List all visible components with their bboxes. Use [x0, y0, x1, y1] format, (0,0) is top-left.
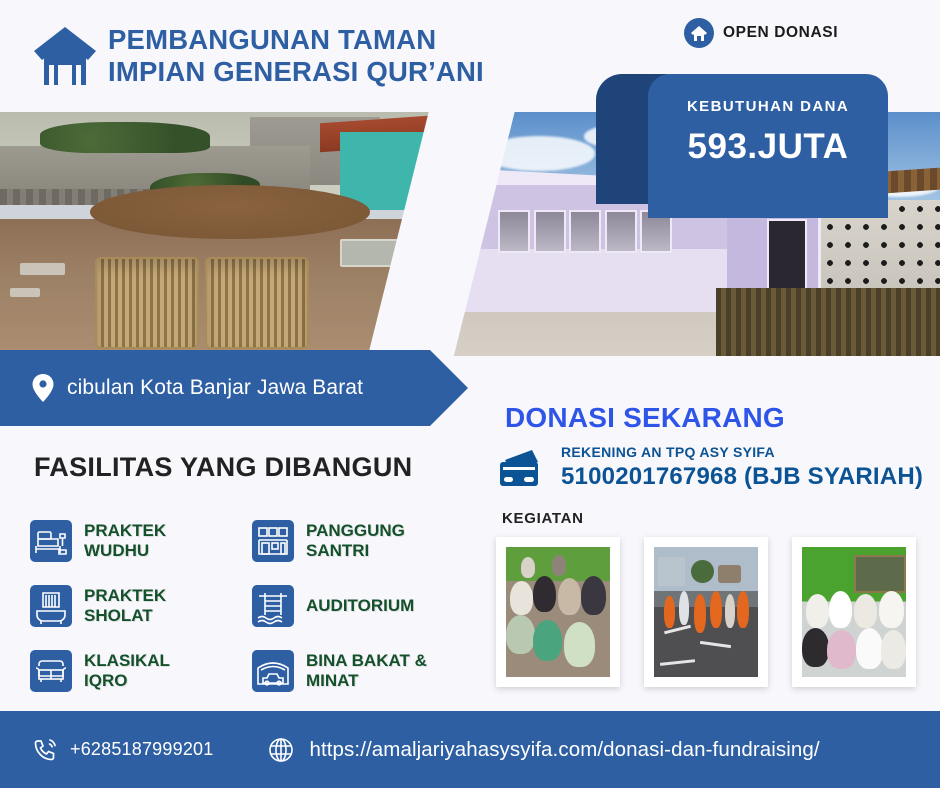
facility-label-line2: MINAT: [306, 671, 359, 690]
facility-label-line2: SANTRI: [306, 541, 369, 560]
footer: +6285187999201 https://amaljariyahasysyi…: [0, 711, 940, 788]
location-text: cibulan Kota Banjar Jawa Barat: [67, 376, 363, 400]
facility-item-bina-bakat-minat: BINA BAKAT & MINAT: [252, 638, 480, 703]
activities-title: KEGIATAN: [502, 510, 584, 527]
facility-label: PRAKTEK SHOLAT: [84, 586, 166, 625]
phone-number: +6285187999201: [70, 739, 213, 760]
facility-label-line2: SHOLAT: [84, 606, 153, 625]
facility-label-line2: IQRO: [84, 671, 127, 690]
facility-item-panggung-santri: PANGGUNG SANTRI: [252, 508, 480, 573]
facility-item-klasikal-iqro: KLASIKAL IQRO: [30, 638, 252, 703]
facility-label-line1: PRAKTEK: [84, 586, 166, 605]
facility-label-line2: WUDHU: [84, 541, 149, 560]
location-banner: cibulan Kota Banjar Jawa Barat: [0, 350, 495, 426]
fund-card-amount: 593.JUTA: [688, 127, 849, 167]
title-line-2: IMPIAN GENERASI QUR’ANI: [108, 56, 578, 88]
house-icon: [32, 25, 98, 87]
facility-label: BINA BAKAT & MINAT: [306, 651, 427, 690]
account-label: REKENING AN TPQ ASY SYIFA: [561, 444, 775, 460]
account-row: REKENING AN TPQ ASY SYIFA 5100201767968 …: [498, 444, 923, 491]
website-url: https://amaljariyahasysyifa.com/donasi-d…: [309, 738, 819, 762]
activity-photo-1: [496, 537, 620, 687]
facilities-title: FASILITAS YANG DIBANGUN: [34, 452, 412, 483]
garage-icon: [252, 650, 294, 692]
facility-label: PRAKTEK WUDHU: [84, 521, 166, 560]
facility-label-line1: PRAKTEK: [84, 521, 166, 540]
donasi-heading: DONASI SEKARANG: [505, 402, 785, 434]
facility-label-line1: AUDITORIUM: [306, 596, 414, 615]
facility-item-praktek-sholat: PRAKTEK SHOLAT: [30, 573, 252, 638]
facility-label-line1: BINA BAKAT &: [306, 651, 427, 670]
activity-photo-2: [644, 537, 768, 687]
marching-band-parade-photo: [654, 547, 758, 677]
footer-phone[interactable]: +6285187999201: [32, 737, 213, 763]
kitchen-icon: [252, 520, 294, 562]
donation-poster: PEMBANGUNAN TAMAN IMPIAN GENERASI QUR’AN…: [0, 0, 940, 788]
open-donasi-label: OPEN DONASI: [723, 24, 838, 42]
activity-photo-3: [792, 537, 916, 687]
facility-label: PANGGUNG SANTRI: [306, 521, 405, 560]
bedroom-icon: [30, 520, 72, 562]
page-title: PEMBANGUNAN TAMAN IMPIAN GENERASI QUR’AN…: [108, 24, 578, 88]
facilities-grid: PRAKTEK WUDHU: [30, 508, 480, 703]
facility-label: KLASIKAL IQRO: [84, 651, 170, 690]
sofa-icon: [30, 650, 72, 692]
pool-icon: [252, 585, 294, 627]
open-donasi-badge[interactable]: OPEN DONASI: [684, 18, 838, 48]
map-pin-icon: [32, 374, 54, 402]
footer-website[interactable]: https://amaljariyahasysyifa.com/donasi-d…: [267, 736, 819, 764]
fund-card-label: KEBUTUHAN DANA: [687, 98, 849, 115]
account-number: 5100201767968 (BJB SYARIAH): [561, 463, 923, 491]
house-circle-icon: [684, 18, 714, 48]
fund-card: KEBUTUHAN DANA 593.JUTA: [648, 74, 888, 218]
facility-item-auditorium: AUDITORIUM: [252, 573, 480, 638]
title-line-1: PEMBANGUNAN TAMAN: [108, 24, 578, 56]
bathroom-icon: [30, 585, 72, 627]
phone-icon: [32, 737, 58, 763]
facility-label-line1: PANGGUNG: [306, 521, 405, 540]
credit-card-icon: [498, 448, 550, 488]
facility-label-line1: KLASIKAL: [84, 651, 170, 670]
classroom-study-photo: [802, 547, 906, 677]
globe-icon: [267, 736, 295, 764]
facility-label: AUDITORIUM: [306, 596, 414, 616]
activity-photo-gallery: [496, 537, 916, 687]
group-gathering-photo: [506, 547, 610, 677]
facility-item-praktek-wudhu: PRAKTEK WUDHU: [30, 508, 252, 573]
